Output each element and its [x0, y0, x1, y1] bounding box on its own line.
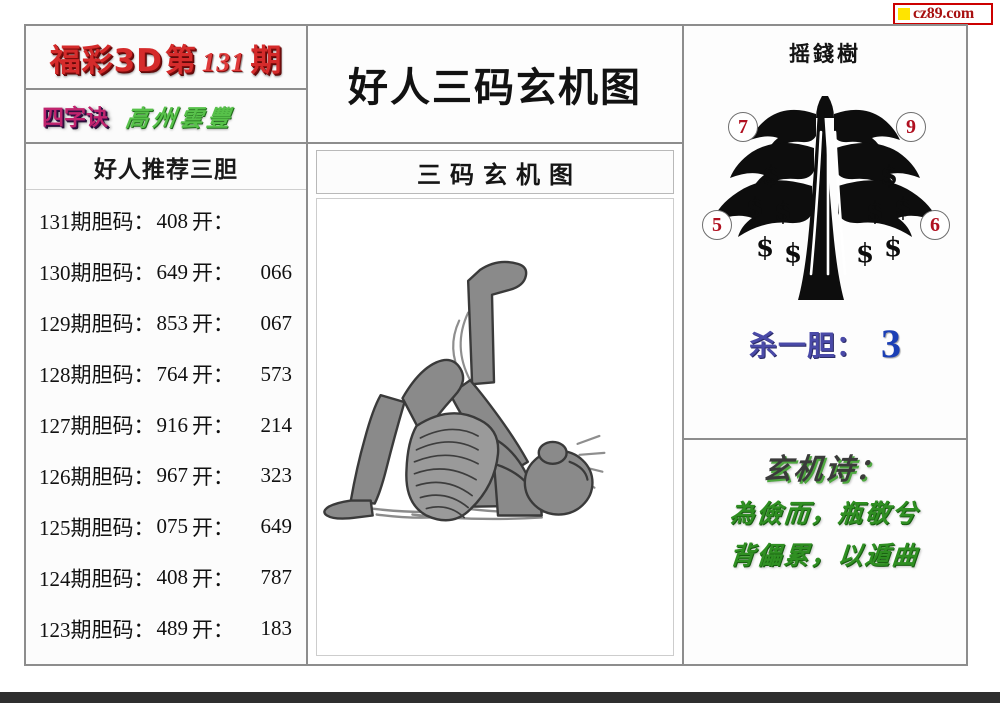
- svg-text:$: $: [866, 197, 884, 227]
- row-open-label: 开：: [192, 359, 234, 389]
- brand-header: 福彩3D 第 131 期: [26, 26, 306, 90]
- row-code-value: 408: [157, 565, 189, 590]
- row-open-label: 开：: [192, 512, 234, 542]
- row-period-label: 128期胆码：: [39, 359, 155, 389]
- tree-number-bottom-right: 6: [920, 210, 950, 240]
- svg-text:$: $: [856, 239, 874, 269]
- recommendation-list-title: 好人推荐三胆: [26, 144, 306, 190]
- row-code-value: 489: [157, 616, 189, 641]
- row-period-label: 123期胆码：: [39, 614, 155, 644]
- motto-phrase: 高州雲豐: [124, 99, 237, 133]
- poem-line-2: 背儡累，以遁曲: [729, 536, 921, 572]
- row-result-value: 183: [236, 616, 292, 641]
- svg-text:$: $: [894, 193, 912, 223]
- tree-number-bottom-left: 5: [702, 210, 732, 240]
- row-code-value: 075: [157, 514, 189, 539]
- row-open-label: 开：: [192, 308, 234, 338]
- list-item: 129期胆码：853 开：067: [26, 298, 306, 349]
- poem-panel: 玄机诗： 為儉而，瓶敬兮 背儡累，以遁曲: [684, 440, 966, 664]
- money-tree-icon: $ $ $ $ $ $ $ $ $ $: [700, 70, 950, 322]
- svg-text:$: $: [746, 193, 764, 223]
- row-code-value: 764: [157, 362, 189, 387]
- svg-text:$: $: [884, 233, 902, 263]
- center-column: 好人三码玄机图 三码玄机图: [308, 26, 684, 664]
- money-tree-panel: 摇錢樹: [684, 26, 966, 440]
- list-item: 127期胆码：916 开：214: [26, 400, 306, 451]
- brand-issue-number: 131: [202, 47, 246, 78]
- brand-prefix: 福彩3D: [50, 35, 163, 80]
- brand-suffix: 期: [250, 35, 282, 80]
- illustration-panel: [316, 198, 674, 656]
- recommendation-list: 131期胆码：408 开：130期胆码：649 开：066129期胆码：853 …: [26, 190, 306, 664]
- row-period-label: 126期胆码：: [39, 461, 155, 491]
- row-code-value: 967: [157, 463, 189, 488]
- logo-text: cz89.com: [913, 6, 974, 22]
- row-open-label: 开：: [192, 206, 234, 236]
- tree-number-top-right: 9: [896, 112, 926, 142]
- row-period-label: 131期胆码：: [39, 206, 155, 236]
- row-open-label: 开：: [192, 563, 234, 593]
- subtitle-box: 三码玄机图: [316, 150, 674, 194]
- row-result-value: 573: [236, 362, 292, 387]
- poem-line-1: 為儉而，瓶敬兮: [729, 494, 921, 530]
- list-item: 123期胆码：489 开：183: [26, 603, 306, 654]
- row-open-label: 开：: [192, 614, 234, 644]
- svg-text:$: $: [762, 161, 780, 191]
- row-result-value: 787: [236, 565, 292, 590]
- kill-label: 杀一胆：: [749, 324, 865, 364]
- brand-issue-word: 第: [165, 35, 197, 80]
- row-result-value: 214: [236, 413, 292, 438]
- row-open-label: 开：: [192, 257, 234, 287]
- poem-heading: 玄机诗：: [761, 446, 889, 488]
- row-code-value: 649: [157, 260, 189, 285]
- motto-tag: 四字诀: [42, 100, 108, 132]
- kill-number-line: 杀一胆： 3: [749, 324, 901, 364]
- subtitle: 三码玄机图: [408, 155, 582, 190]
- main-title-box: 好人三码玄机图: [308, 26, 682, 144]
- row-period-label: 127期胆码：: [39, 410, 155, 440]
- row-result-value: 323: [236, 463, 292, 488]
- money-tree-graphic-wrap: $ $ $ $ $ $ $ $ $ $ 7 9: [700, 70, 950, 322]
- reclining-figure-illustration: [317, 199, 673, 655]
- row-result-value: 067: [236, 311, 292, 336]
- list-item: 128期胆码：764 开：573: [26, 349, 306, 400]
- row-open-label: 开：: [192, 410, 234, 440]
- svg-text:$: $: [784, 239, 802, 269]
- row-code-value: 408: [157, 209, 189, 234]
- poster-page: cz89.com 福彩3D 第 131 期 四字诀 高州雲豐 好人推荐三胆 13…: [0, 0, 1000, 703]
- row-result-value: 066: [236, 260, 292, 285]
- svg-text:$: $: [756, 233, 774, 263]
- list-item: 131期胆码：408 开：: [26, 196, 306, 247]
- row-open-label: 开：: [192, 461, 234, 491]
- row-period-label: 125期胆码：: [39, 512, 155, 542]
- list-item: 124期胆码：408 开：787: [26, 552, 306, 603]
- row-code-value: 916: [157, 413, 189, 438]
- svg-text:$: $: [880, 161, 898, 191]
- bottom-strip: [0, 692, 1000, 703]
- main-title: 好人三码玄机图: [348, 55, 642, 113]
- svg-text:$: $: [774, 197, 792, 227]
- motto-row: 四字诀 高州雲豐: [26, 90, 306, 144]
- list-item: 130期胆码：649 开：066: [26, 247, 306, 298]
- logo-square-icon: [898, 8, 910, 20]
- row-code-value: 853: [157, 311, 189, 336]
- poster-frame: 福彩3D 第 131 期 四字诀 高州雲豐 好人推荐三胆 131期胆码：408 …: [24, 24, 968, 666]
- site-watermark-logo: cz89.com: [893, 3, 993, 25]
- row-result-value: 649: [236, 514, 292, 539]
- row-period-label: 130期胆码：: [39, 257, 155, 287]
- right-column: 摇錢樹: [684, 26, 966, 664]
- left-column: 福彩3D 第 131 期 四字诀 高州雲豐 好人推荐三胆 131期胆码：408 …: [26, 26, 308, 664]
- list-item: 126期胆码：967 开：323: [26, 450, 306, 501]
- money-tree-title: 摇錢樹: [789, 38, 861, 68]
- row-period-label: 129期胆码：: [39, 308, 155, 338]
- row-period-label: 124期胆码：: [39, 563, 155, 593]
- kill-value: 3: [881, 324, 901, 364]
- tree-number-top-left: 7: [728, 112, 758, 142]
- brand-title: 福彩3D 第 131 期: [50, 35, 283, 80]
- list-item: 125期胆码：075 开：649: [26, 501, 306, 552]
